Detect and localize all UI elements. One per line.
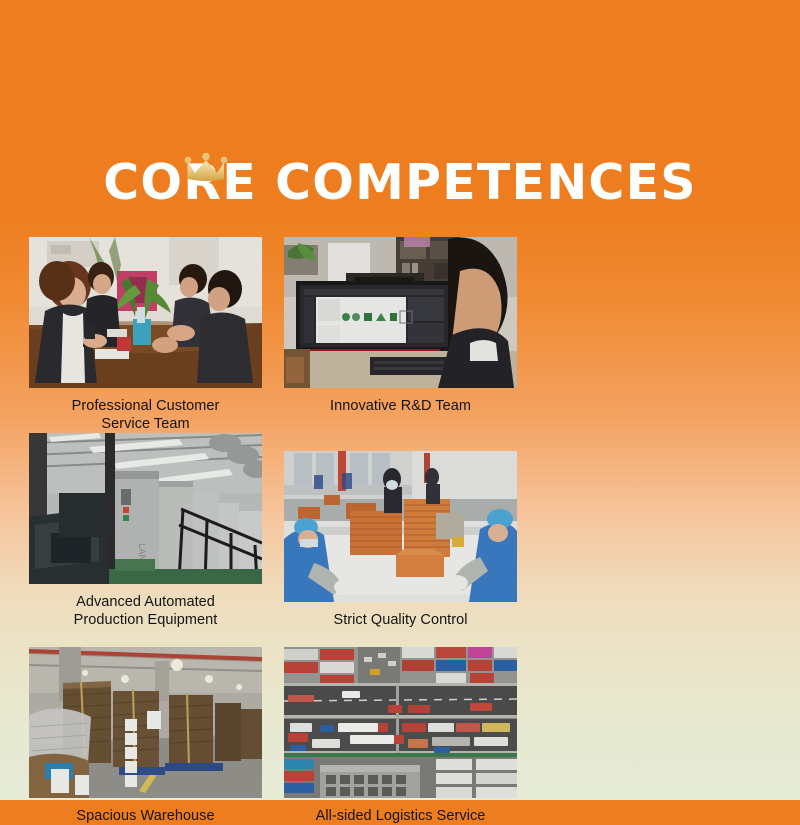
page-title: CORE COMPETENCES [103,155,696,211]
professional-customer-service-team-photo[interactable] [29,237,262,388]
tile-caption: Professional Customer Service Team [29,397,262,433]
tile-advanced-automated-production-equipment[interactable]: LAND [29,433,262,629]
tile-caption: Advanced Automated Production Equipment [29,593,262,629]
tile-grid: Professional Customer Service Team [29,237,771,825]
tile-caption: Spacious Warehouse [29,807,262,825]
title-block: CORE COMPETENCES [0,155,800,211]
tile-spacious-warehouse[interactable]: Spacious Warehouse [29,647,262,825]
strict-quality-control-photo[interactable] [284,451,517,602]
innovative-rd-team-photo[interactable] [284,237,517,388]
tile-professional-customer-service-team[interactable]: Professional Customer Service Team [29,237,262,433]
all-sided-logistics-service-photo[interactable] [284,647,517,798]
tile-all-sided-logistics-service[interactable]: All-sided Logistics Service [284,647,517,825]
tile-caption: All-sided Logistics Service [284,807,517,825]
tile-caption: Innovative R&D Team [284,397,517,415]
tile-caption: Strict Quality Control [284,611,517,629]
advanced-automated-production-equipment-photo[interactable]: LAND [29,433,262,584]
tile-strict-quality-control[interactable]: Strict Quality Control [284,451,517,629]
core-competences-banner: CORE COMPETENCES [0,0,800,800]
tile-innovative-rd-team[interactable]: Innovative R&D Team [284,237,517,433]
spacious-warehouse-photo[interactable] [29,647,262,798]
